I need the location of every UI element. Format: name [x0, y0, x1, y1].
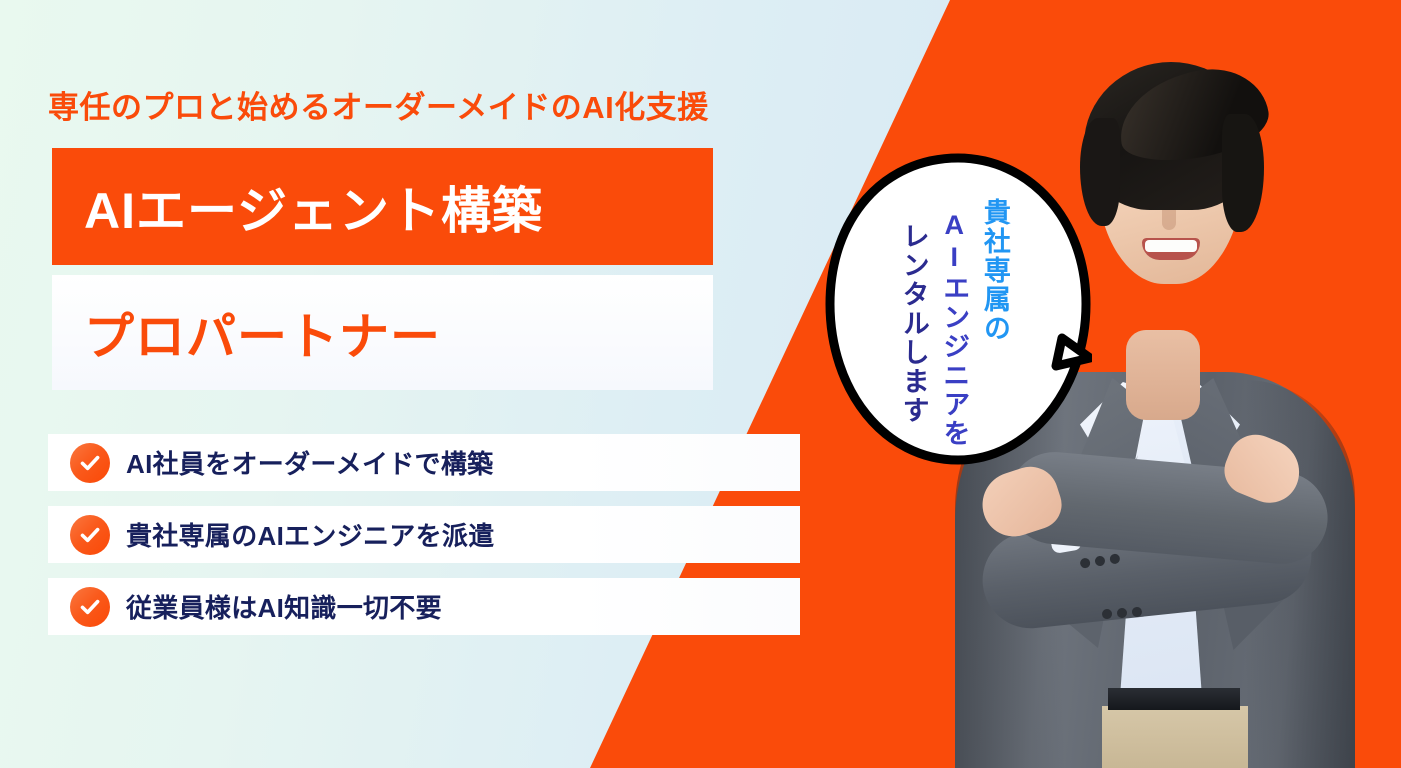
trousers [1102, 706, 1248, 768]
check-circle-icon [70, 587, 110, 627]
feature-item: AI社員をオーダーメイドで構築 [48, 434, 800, 491]
neck [1126, 330, 1200, 420]
headline-bar-primary: AIエージェント構築 [52, 148, 713, 265]
check-circle-icon [70, 515, 110, 555]
feature-label: 貴社専属のAIエンジニアを派遣 [126, 516, 495, 553]
bubble-column-right: 貴社専属の [977, 198, 1012, 343]
bubble-column-middle: AIエンジニアを [937, 210, 972, 448]
feature-item: 貴社専属のAIエンジニアを派遣 [48, 506, 800, 563]
headline-bar-secondary: プロパートナー [52, 275, 713, 390]
hero-banner: 貴社専属の AIエンジニアを レンタルします 専任のプロと始めるオーダーメイドの… [0, 0, 1401, 768]
headline-line-1: AIエージェント構築 [84, 171, 543, 243]
feature-item: 従業員様はAI知識一切不要 [48, 578, 800, 635]
hair-side-right [1222, 114, 1264, 232]
speech-bubble: 貴社専属の AIエンジニアを レンタルします [824, 152, 1092, 470]
speech-bubble-text: 貴社専属の AIエンジニアを レンタルします [824, 152, 1092, 470]
teeth [1145, 240, 1197, 252]
check-circle-icon [70, 443, 110, 483]
feature-label: 従業員様はAI知識一切不要 [126, 588, 442, 625]
tagline: 専任のプロと始めるオーダーメイドのAI化支援 [48, 82, 709, 127]
headline-line-2: プロパートナー [84, 297, 441, 369]
belt [1108, 688, 1240, 710]
bubble-column-left: レンタルします [896, 222, 931, 425]
feature-list: AI社員をオーダーメイドで構築 貴社専属のAIエンジニアを派遣 従業員様はAI知… [48, 434, 800, 650]
feature-label: AI社員をオーダーメイドで構築 [126, 444, 493, 481]
mouth [1142, 238, 1200, 260]
